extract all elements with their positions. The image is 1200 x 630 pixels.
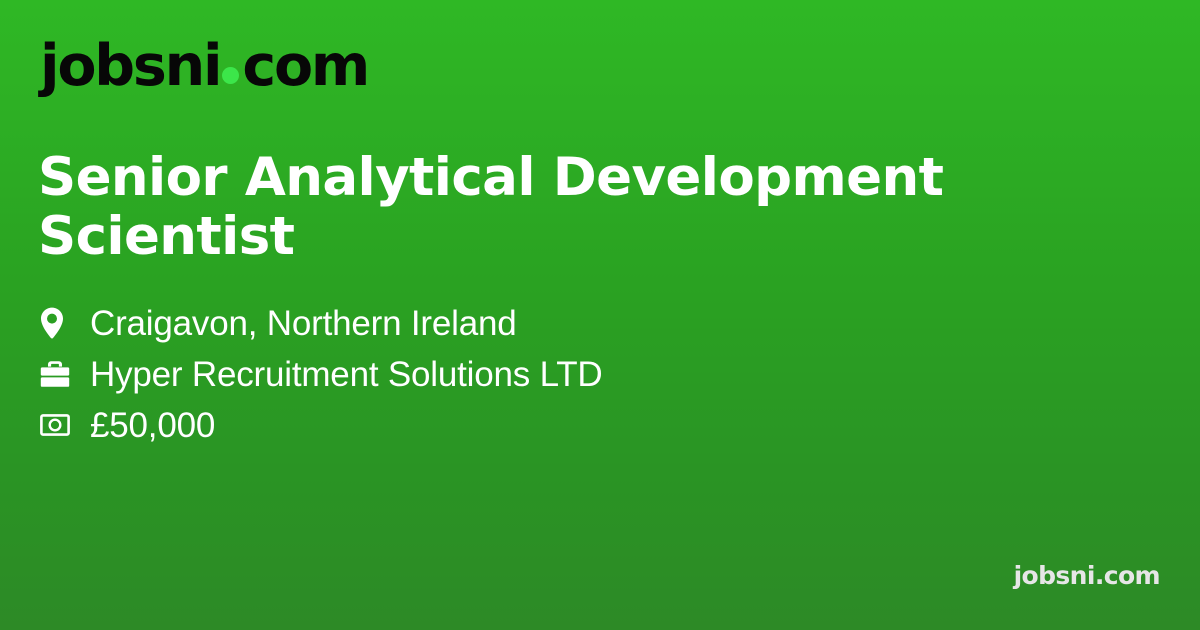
job-meta-company: Hyper Recruitment Solutions LTD bbox=[40, 355, 603, 393]
logo-dot-label: . bbox=[222, 67, 223, 68]
job-share-card: jobsni . com Senior Analytical Developme… bbox=[0, 0, 1200, 630]
briefcase-icon bbox=[40, 358, 74, 390]
job-company-text: Hyper Recruitment Solutions LTD bbox=[90, 357, 603, 392]
job-title: Senior Analytical Development Scientist bbox=[38, 148, 968, 267]
job-meta-list: Craigavon, Northern Ireland Hyper Recrui… bbox=[40, 304, 603, 444]
job-salary-text: £50,000 bbox=[90, 408, 215, 443]
job-location-text: Craigavon, Northern Ireland bbox=[90, 306, 517, 341]
job-meta-salary: £50,000 bbox=[40, 406, 603, 444]
banknote-icon bbox=[40, 409, 74, 441]
location-pin-icon bbox=[40, 307, 74, 339]
logo-text-secondary: com bbox=[242, 38, 368, 95]
site-logo[interactable]: jobsni . com bbox=[40, 38, 368, 95]
logo-text-primary: jobsni bbox=[40, 38, 220, 95]
site-watermark: jobsni.com bbox=[1014, 563, 1160, 588]
job-meta-location: Craigavon, Northern Ireland bbox=[40, 304, 603, 342]
logo-dot-icon: . bbox=[222, 67, 239, 84]
